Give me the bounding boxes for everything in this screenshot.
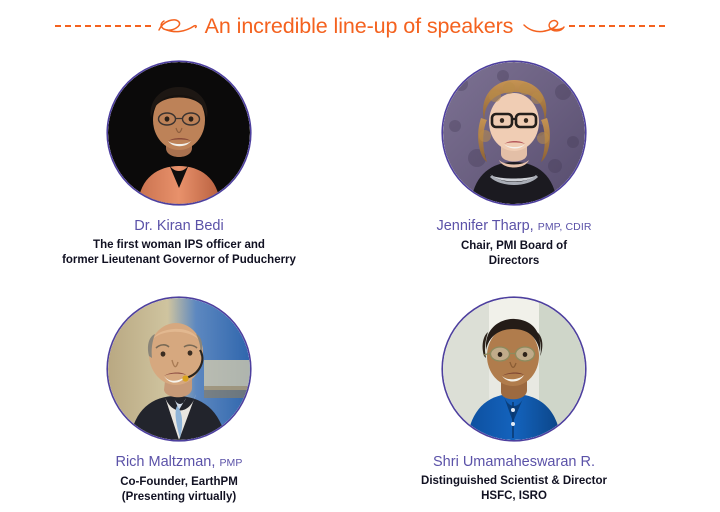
speaker-description-line: HSFC, ISRO — [346, 489, 682, 504]
speaker-name-text: Dr. Kiran Bedi — [134, 218, 223, 234]
speaker-card: Shri Umamaheswaran R. Distinguished Scie… — [346, 288, 682, 503]
speaker-description-line: Directors — [346, 254, 682, 269]
speaker-credentials: PMP, CDIR — [538, 221, 592, 233]
avatar — [443, 298, 585, 440]
speaker-description-line: Co-Founder, EarthPM — [11, 475, 347, 490]
speaker-description: The first woman IPS officer and former L… — [11, 238, 347, 267]
calligraphic-flourish-right-icon — [521, 11, 567, 41]
avatar — [108, 298, 250, 440]
speaker-grid: Dr. Kiran Bedi The first woman IPS offic… — [0, 52, 720, 512]
speaker-name: Dr. Kiran Bedi — [11, 218, 347, 235]
speaker-description: Co-Founder, EarthPM (Presenting virtuall… — [11, 475, 347, 504]
avatar — [108, 62, 250, 204]
speaker-card: Jennifer Tharp, PMP, CDIR Chair, PMI Boa… — [346, 52, 682, 268]
speaker-description-line: former Lieutenant Governor of Puducherry — [11, 253, 347, 268]
section-header: An incredible line-up of speakers — [0, 8, 720, 44]
speaker-portrait-rich-maltzman — [108, 298, 250, 440]
page-title: An incredible line-up of speakers — [199, 14, 522, 39]
speaker-description-line: (Presenting virtually) — [11, 490, 347, 505]
speaker-name: Rich Maltzman, PMP — [11, 454, 347, 472]
calligraphic-flourish-left-icon — [153, 11, 199, 41]
speaker-portrait-umamaheswaran — [443, 298, 585, 440]
dashed-rule-icon-left — [55, 25, 151, 27]
speaker-portrait-jennifer-tharp — [443, 62, 585, 204]
speaker-name: Jennifer Tharp, PMP, CDIR — [346, 218, 682, 236]
speaker-name-text: Shri Umamaheswaran R. — [433, 454, 595, 470]
speaker-card: Rich Maltzman, PMP Co-Founder, EarthPM (… — [11, 288, 347, 504]
dashed-rule-icon-right — [569, 25, 665, 27]
speaker-name: Shri Umamaheswaran R. — [346, 454, 682, 471]
speaker-credentials: PMP — [219, 457, 242, 469]
speaker-card: Dr. Kiran Bedi The first woman IPS offic… — [11, 52, 347, 267]
avatar — [443, 62, 585, 204]
speaker-description-line: Distinguished Scientist & Director — [346, 474, 682, 489]
speaker-description-line: The first woman IPS officer and — [11, 238, 347, 253]
speaker-portrait-kiran-bedi — [108, 62, 250, 204]
speaker-name-text: Rich Maltzman, — [115, 454, 215, 470]
speaker-description: Distinguished Scientist & Director HSFC,… — [346, 474, 682, 503]
speaker-description-line: Chair, PMI Board of — [346, 239, 682, 254]
speaker-description: Chair, PMI Board of Directors — [346, 239, 682, 268]
speaker-name-text: Jennifer Tharp, — [436, 218, 533, 234]
